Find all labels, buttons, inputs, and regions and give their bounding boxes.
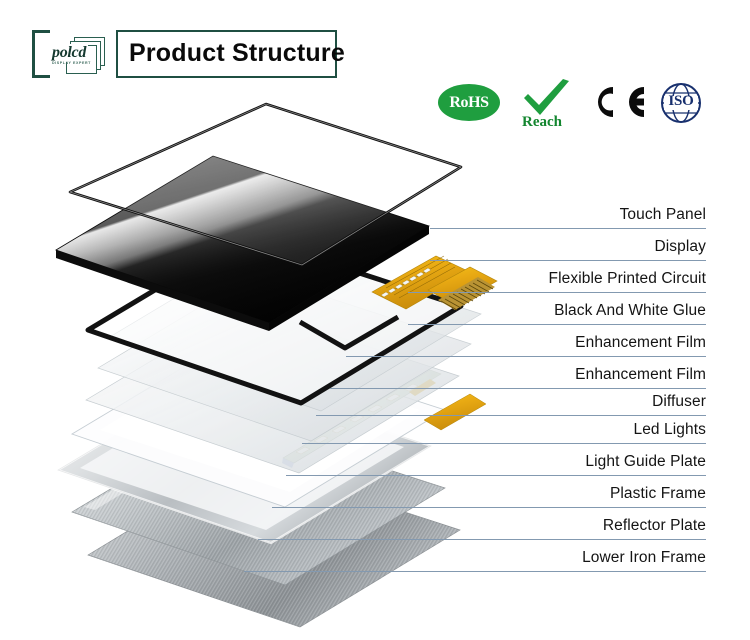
- callout-row: Display: [0, 238, 750, 262]
- callout-label: Flexible Printed Circuit: [549, 270, 706, 288]
- callout-row: Plastic Frame: [0, 485, 750, 509]
- callout-row: Led Lights: [0, 421, 750, 445]
- callout-label: Plastic Frame: [610, 485, 706, 503]
- callout-label: Diffuser: [652, 393, 706, 411]
- callout-label: Display: [654, 238, 706, 256]
- callout-row: Enhancement Film: [0, 334, 750, 358]
- callout-row: Lower Iron Frame: [0, 549, 750, 573]
- callout-row: Enhancement Film: [0, 366, 750, 390]
- leader-line: [244, 571, 706, 572]
- callout-row: Reflector Plate: [0, 517, 750, 541]
- leader-line: [346, 356, 706, 357]
- leader-line: [316, 415, 706, 416]
- callout-label: Enhancement Film: [575, 366, 706, 384]
- callout-row: Diffuser: [0, 393, 750, 417]
- callout-label: Enhancement Film: [575, 334, 706, 352]
- leader-line: [408, 292, 706, 293]
- callout-label: Lower Iron Frame: [582, 549, 706, 567]
- callout-row: Black And White Glue: [0, 302, 750, 326]
- leader-line: [408, 324, 706, 325]
- callout-labels: Touch Panel Display Flexible Printed Cir…: [0, 0, 750, 640]
- callout-label: Light Guide Plate: [585, 453, 706, 471]
- leader-line: [302, 443, 706, 444]
- callout-label: Led Lights: [633, 421, 706, 439]
- leader-line: [272, 507, 706, 508]
- leader-line: [258, 539, 706, 540]
- callout-label: Black And White Glue: [554, 302, 706, 320]
- callout-row: Light Guide Plate: [0, 453, 750, 477]
- logo-wordmark: polcd: [50, 44, 88, 62]
- callout-row: Flexible Printed Circuit: [0, 270, 750, 294]
- leader-line: [286, 475, 706, 476]
- callout-label: Reflector Plate: [603, 517, 706, 535]
- callout-row: Touch Panel: [0, 206, 750, 230]
- leader-line: [330, 388, 706, 389]
- callout-label: Touch Panel: [620, 206, 706, 224]
- leader-line: [430, 260, 706, 261]
- leader-line: [430, 228, 706, 229]
- logo-subtitle: DISPLAY EXPERT: [52, 61, 91, 65]
